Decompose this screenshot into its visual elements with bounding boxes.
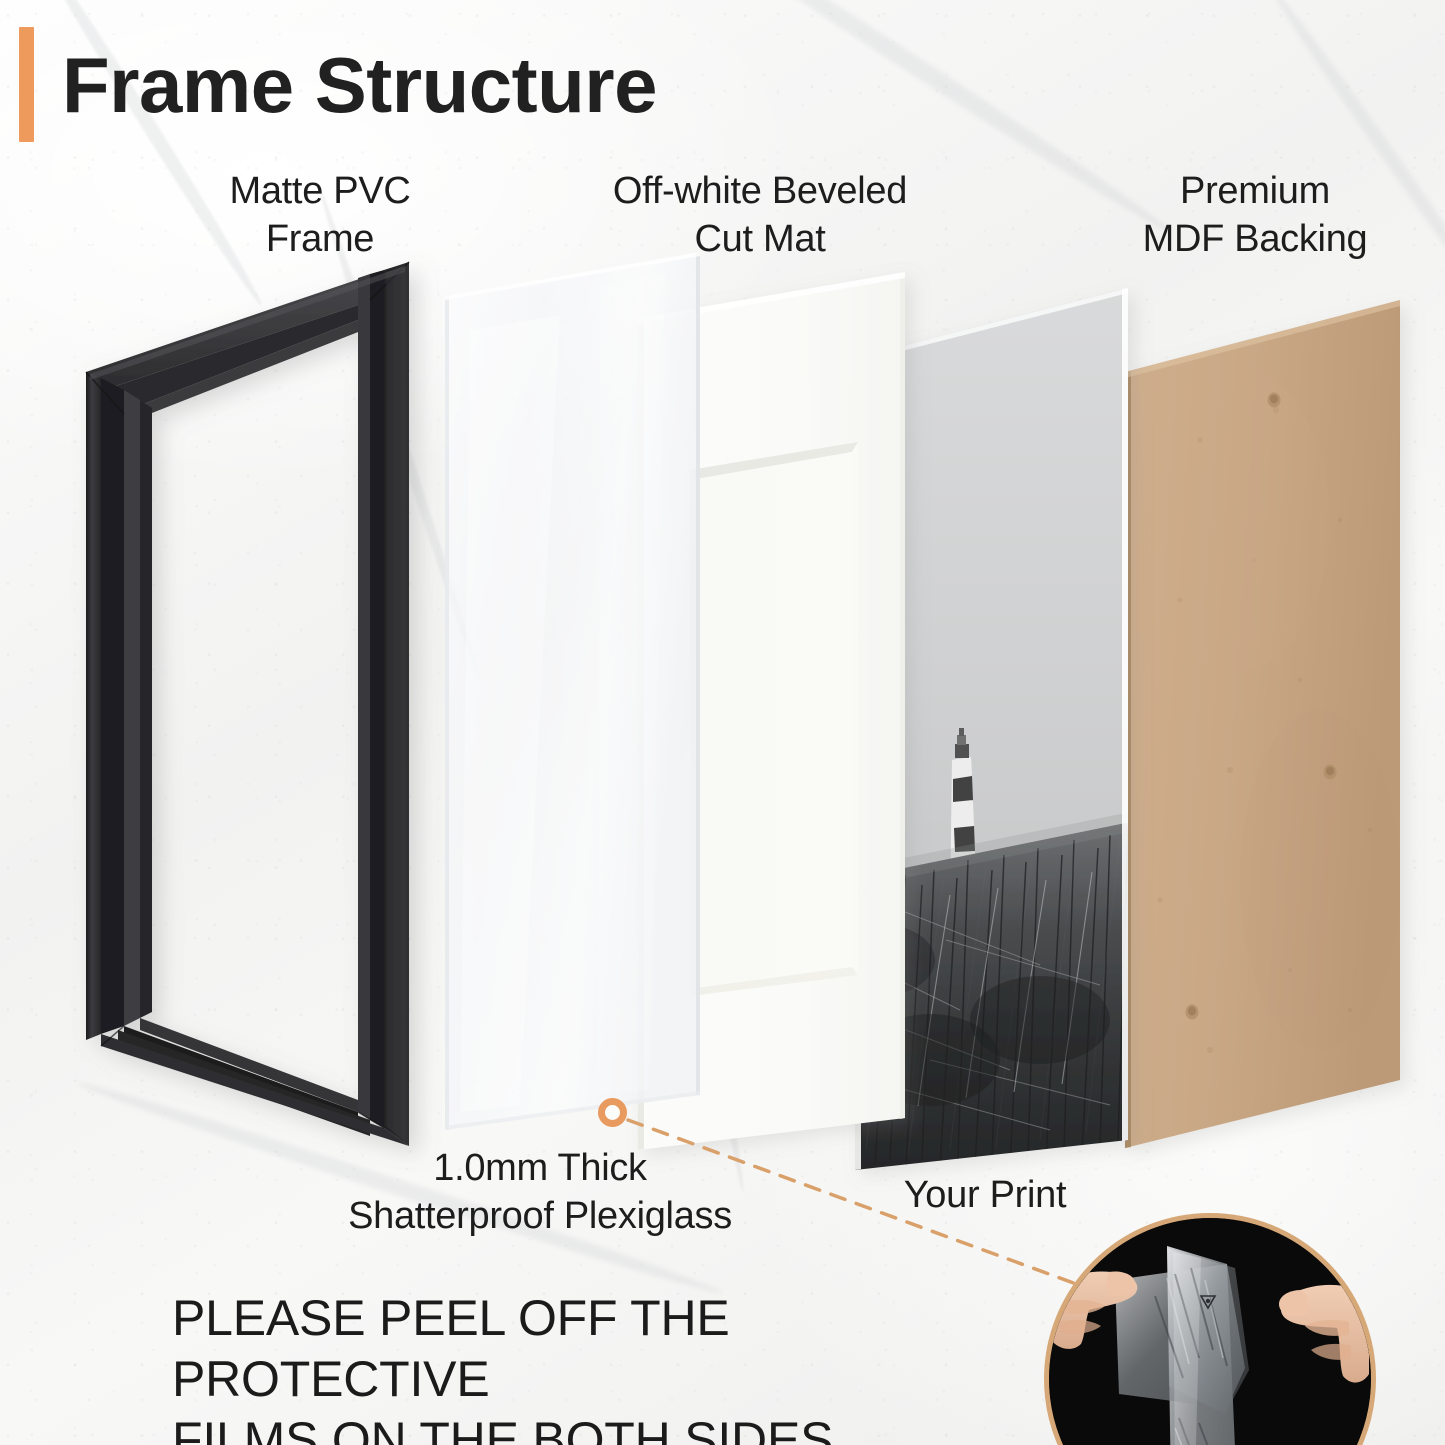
cta-line-2: FILMS ON THE BOTH SIDES bbox=[172, 1410, 1052, 1445]
infographic-stage: Frame Structure bbox=[0, 0, 1445, 1445]
peel-instruction: PLEASE PEEL OFF THE PROTECTIVE FILMS ON … bbox=[172, 1288, 1052, 1445]
cta-highlight-text: BOTH SIDES bbox=[532, 1412, 833, 1445]
label-line: Off-white Beveled bbox=[540, 168, 980, 216]
label-off-white-beveled-cut-mat: Off-white Beveled Cut Mat bbox=[540, 168, 980, 263]
label-line: Premium bbox=[1075, 168, 1435, 216]
layer-premium-mdf-backing bbox=[1125, 300, 1400, 1148]
label-line: Matte PVC bbox=[120, 168, 520, 216]
cta-highlight: BOTH SIDES bbox=[532, 1410, 833, 1445]
label-line: 1.0mm Thick bbox=[280, 1145, 800, 1193]
label-line: Frame bbox=[120, 216, 520, 264]
cta-line-2-prefix: FILMS ON THE bbox=[172, 1412, 532, 1445]
label-line: MDF Backing bbox=[1075, 216, 1435, 264]
callout-marker-ring bbox=[598, 1098, 627, 1127]
layer-matte-pvc-frame bbox=[86, 262, 409, 1146]
cta-line-1: PLEASE PEEL OFF THE PROTECTIVE bbox=[172, 1288, 1052, 1410]
label-line: Shatterproof Plexiglass bbox=[280, 1193, 800, 1241]
label-premium-mdf-backing: Premium MDF Backing bbox=[1075, 168, 1435, 263]
label-shatterproof-plexiglass: 1.0mm Thick Shatterproof Plexiglass bbox=[280, 1145, 800, 1240]
label-matte-pvc-frame: Matte PVC Frame bbox=[120, 168, 520, 263]
layer-shatterproof-plexiglass bbox=[445, 252, 700, 1130]
label-your-print: Your Print bbox=[855, 1172, 1115, 1220]
label-line: Cut Mat bbox=[540, 216, 980, 264]
